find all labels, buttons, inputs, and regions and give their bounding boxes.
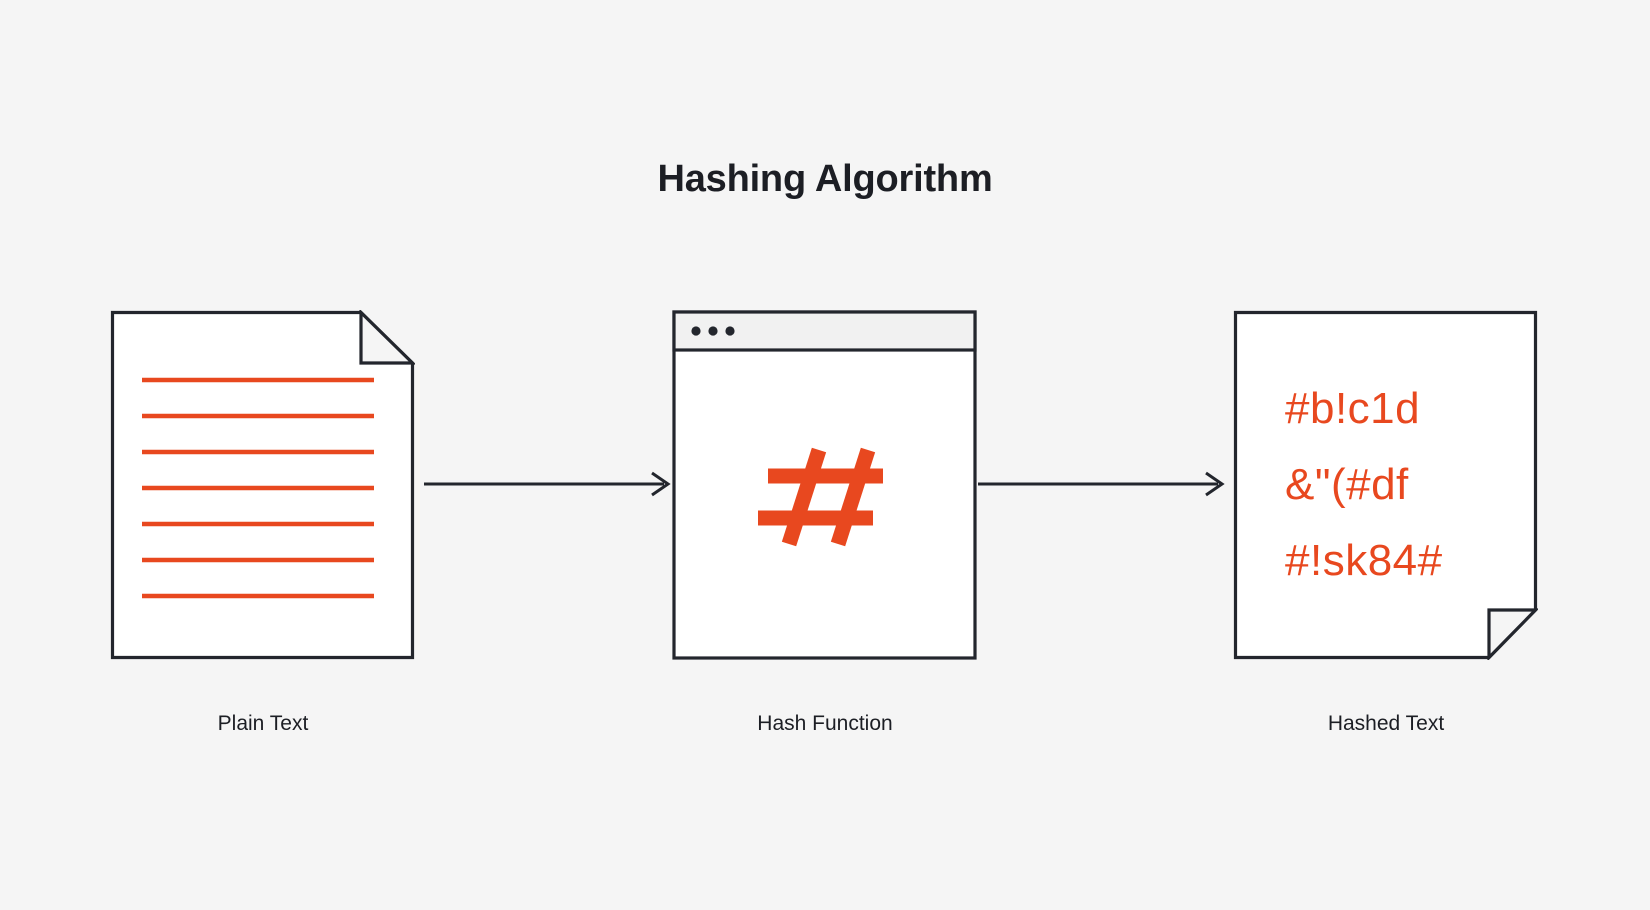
arrow-hash-to-hashed: [978, 466, 1226, 502]
hashed-text-line: #!sk84#: [1285, 523, 1538, 599]
arrow-plain-to-hash: [424, 466, 672, 502]
window-frame: [674, 312, 975, 658]
caption-hash-function: Hash Function: [645, 712, 1005, 736]
document-fold-corner: [361, 313, 413, 364]
caption-hashed-text: Hashed Text: [1206, 712, 1566, 736]
hash-function-window[interactable]: [672, 310, 977, 660]
caption-plain-text: Plain Text: [83, 712, 443, 736]
hashed-text-document[interactable]: #b!c1d &"(#df #!sk84#: [1233, 310, 1538, 660]
plain-text-document[interactable]: [110, 310, 415, 660]
window-dot-icon: [708, 326, 717, 335]
diagram-stage: Plain Text: [0, 0, 1650, 910]
diagram-canvas: Hashing Algorithm Plai: [0, 0, 1650, 910]
window-title-bar: [674, 312, 975, 350]
window-dots[interactable]: [691, 326, 734, 335]
hashed-text-line: &"(#df: [1285, 447, 1538, 523]
window-dot-icon: [691, 326, 700, 335]
hashed-text-content: #b!c1d &"(#df #!sk84#: [1233, 310, 1538, 660]
hashed-text-line: #b!c1d: [1285, 371, 1538, 447]
window-dot-icon: [725, 326, 734, 335]
